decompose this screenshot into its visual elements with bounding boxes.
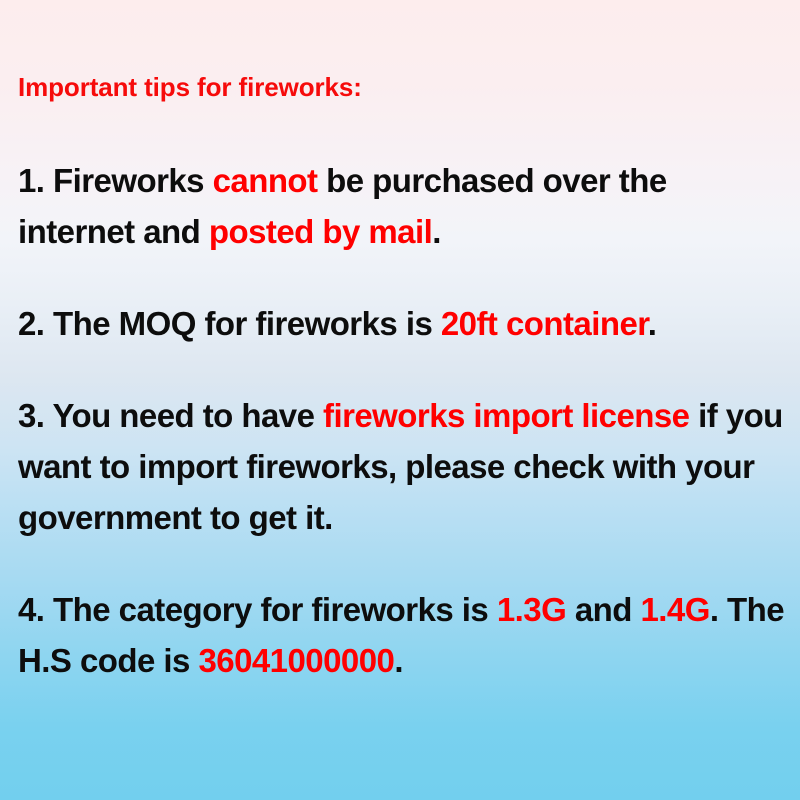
fireworks-tips-poster: Important tips for fireworks: 1. Firewor… — [0, 0, 800, 800]
tip-number: 2. — [18, 305, 44, 342]
tip-highlight: fireworks import license — [323, 397, 689, 434]
tip-text: Fireworks — [44, 162, 212, 199]
tip-highlight: 20ft container — [441, 305, 648, 342]
tip-number: 1. — [18, 162, 44, 199]
tip-highlight: posted by mail — [209, 213, 432, 250]
tip-text: . — [648, 305, 657, 342]
tip-text: . — [394, 642, 403, 679]
list-item: 3. You need to have fireworks import lic… — [18, 390, 786, 543]
tip-text: You need to have — [44, 397, 323, 434]
tip-text: . — [432, 213, 441, 250]
list-item: 2. The MOQ for fireworks is 20ft contain… — [18, 298, 786, 349]
tips-list: 1. Fireworks cannot be purchased over th… — [18, 155, 786, 686]
tip-highlight: 1.4G — [640, 591, 709, 628]
page-title: Important tips for fireworks: — [18, 72, 362, 102]
tip-highlight: cannot — [213, 162, 318, 199]
list-item: 1. Fireworks cannot be purchased over th… — [18, 155, 786, 257]
tip-text: and — [566, 591, 640, 628]
list-item: 4. The category for fireworks is 1.3G an… — [18, 584, 786, 686]
tip-text: The category for fireworks is — [44, 591, 496, 628]
tip-highlight: 36041000000 — [198, 642, 394, 679]
tip-highlight: 1.3G — [497, 591, 566, 628]
tip-number: 4. — [18, 591, 44, 628]
tip-number: 3. — [18, 397, 44, 434]
tip-text: The MOQ for fireworks is — [44, 305, 440, 342]
